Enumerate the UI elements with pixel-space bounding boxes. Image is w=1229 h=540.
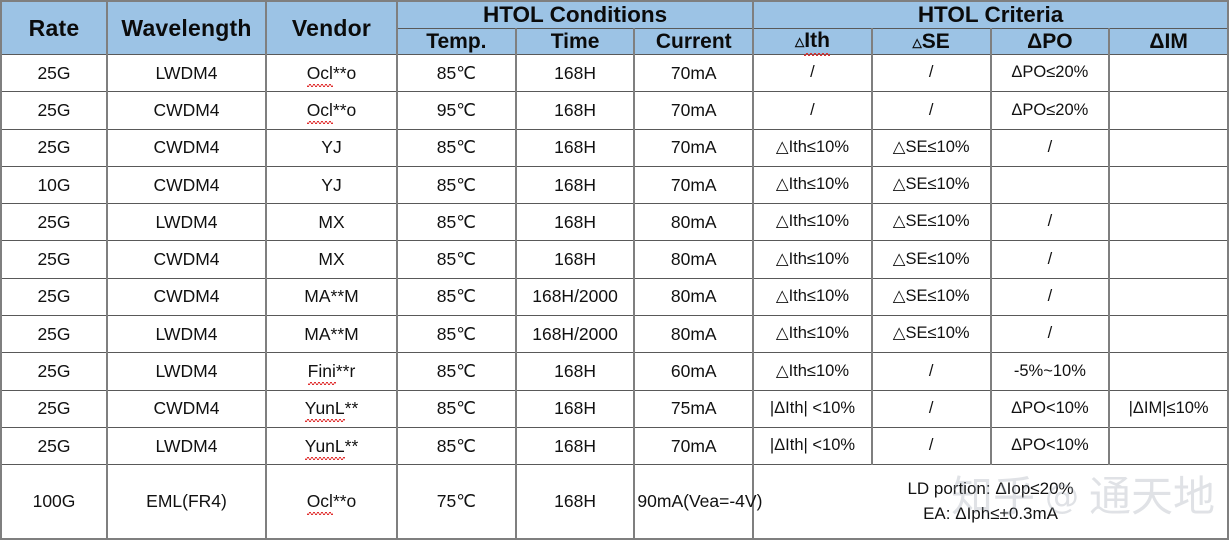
vendor-name-misspelled: YunL	[305, 398, 345, 419]
criteria-ld-portion: LD portion: ΔIop≤20%	[756, 477, 1225, 502]
vendor-name-suffix: **o	[333, 491, 356, 511]
cell-delta-im	[1109, 278, 1228, 315]
vendor-name-misspelled: Ocl	[307, 63, 333, 84]
cell-time: 168H	[516, 166, 635, 203]
cell-time: 168H	[516, 55, 635, 92]
cell-rate: 25G	[1, 353, 107, 390]
cell-vendor: MX	[266, 241, 397, 278]
cell-delta-po: ΔPO<10%	[991, 390, 1110, 427]
cell-temp: 95℃	[397, 92, 516, 129]
cell-delta-ith: △Ith≤10%	[753, 278, 872, 315]
cell-wavelength: LWDM4	[107, 353, 266, 390]
cell-delta-po: ΔPO<10%	[991, 427, 1110, 464]
cell-current: 70mA	[634, 129, 753, 166]
cell-delta-se: △SE≤10%	[872, 278, 991, 315]
cell-time: 168H	[516, 465, 635, 539]
cell-wavelength: CWDM4	[107, 278, 266, 315]
cell-time: 168H	[516, 92, 635, 129]
cell-delta-se: /	[872, 390, 991, 427]
vendor-name-misspelled: YunL	[305, 436, 345, 457]
cell-rate: 25G	[1, 316, 107, 353]
cell-time: 168H	[516, 129, 635, 166]
table-body: 25GLWDM4Ocl**o85℃168H70mA//ΔPO≤20%25GCWD…	[1, 55, 1228, 540]
table-row: 25GLWDM4Fini**r85℃168H60mA△Ith≤10%/-5%~1…	[1, 353, 1228, 390]
cell-vendor: MA**M	[266, 316, 397, 353]
column-header-delta-po: ΔPO	[991, 29, 1110, 55]
table-row: 100GEML(FR4)Ocl**o75℃168H90mA(Vea=-4V)LD…	[1, 465, 1228, 539]
cell-temp: 85℃	[397, 316, 516, 353]
cell-wavelength: CWDM4	[107, 166, 266, 203]
cell-current: 70mA	[634, 55, 753, 92]
cell-current: 90mA(Vea=-4V)	[634, 465, 753, 539]
cell-criteria-merged: LD portion: ΔIop≤20%EA: ΔIph≤±0.3mA	[753, 465, 1228, 539]
cell-delta-ith: △Ith≤10%	[753, 316, 872, 353]
cell-delta-ith: /	[753, 92, 872, 129]
cell-delta-se: △SE≤10%	[872, 166, 991, 203]
cell-delta-ith: △Ith≤10%	[753, 166, 872, 203]
cell-delta-im	[1109, 353, 1228, 390]
cell-delta-po: /	[991, 278, 1110, 315]
vendor-name-suffix: **o	[333, 63, 356, 83]
cell-delta-im	[1109, 316, 1228, 353]
cell-vendor: YJ	[266, 129, 397, 166]
cell-rate: 25G	[1, 427, 107, 464]
cell-delta-po: ΔPO≤20%	[991, 55, 1110, 92]
cell-time: 168H	[516, 204, 635, 241]
vendor-name-misspelled: Fini	[308, 361, 336, 382]
cell-delta-se: /	[872, 427, 991, 464]
table-row: 25GLWDM4Ocl**o85℃168H70mA//ΔPO≤20%	[1, 55, 1228, 92]
cell-delta-po: ΔPO≤20%	[991, 92, 1110, 129]
cell-rate: 25G	[1, 278, 107, 315]
table-row: 25GCWDM4MX85℃168H80mA△Ith≤10%△SE≤10%/	[1, 241, 1228, 278]
cell-temp: 75℃	[397, 465, 516, 539]
cell-rate: 25G	[1, 129, 107, 166]
cell-vendor: YunL**	[266, 390, 397, 427]
cell-vendor: YJ	[266, 166, 397, 203]
cell-delta-po: /	[991, 316, 1110, 353]
vendor-name-misspelled: Ocl	[307, 100, 333, 121]
cell-vendor: Ocl**o	[266, 55, 397, 92]
cell-delta-ith: |ΔIth| <10%	[753, 390, 872, 427]
cell-current: 80mA	[634, 316, 753, 353]
column-header-delta-se: △SE	[872, 29, 991, 55]
cell-rate: 25G	[1, 92, 107, 129]
table-row: 25GLWDM4MA**M85℃168H/200080mA△Ith≤10%△SE…	[1, 316, 1228, 353]
cell-wavelength: CWDM4	[107, 129, 266, 166]
table-row: 25GCWDM4YunL**85℃168H75mA|ΔIth| <10%/ΔPO…	[1, 390, 1228, 427]
cell-temp: 85℃	[397, 241, 516, 278]
cell-time: 168H	[516, 353, 635, 390]
column-header-vendor: Vendor	[266, 1, 397, 55]
cell-rate: 25G	[1, 204, 107, 241]
cell-delta-im	[1109, 129, 1228, 166]
cell-delta-ith: △Ith≤10%	[753, 241, 872, 278]
table-row: 25GCWDM4MA**M85℃168H/200080mA△Ith≤10%△SE…	[1, 278, 1228, 315]
cell-vendor: MX	[266, 204, 397, 241]
cell-rate: 25G	[1, 55, 107, 92]
cell-delta-ith: |ΔIth| <10%	[753, 427, 872, 464]
cell-delta-se: △SE≤10%	[872, 129, 991, 166]
cell-delta-im	[1109, 204, 1228, 241]
cell-current: 80mA	[634, 241, 753, 278]
table-row: 10GCWDM4YJ85℃168H70mA△Ith≤10%△SE≤10%	[1, 166, 1228, 203]
delta-triangle-icon: △	[795, 35, 804, 49]
cell-wavelength: LWDM4	[107, 316, 266, 353]
vendor-name-suffix: **o	[333, 100, 356, 120]
criteria-ea: EA: ΔIph≤±0.3mA	[756, 502, 1225, 527]
cell-delta-se: △SE≤10%	[872, 241, 991, 278]
cell-wavelength: CWDM4	[107, 241, 266, 278]
cell-delta-ith: △Ith≤10%	[753, 204, 872, 241]
cell-current: 70mA	[634, 427, 753, 464]
cell-temp: 85℃	[397, 390, 516, 427]
cell-current: 70mA	[634, 166, 753, 203]
spec-table-container: Rate Wavelength Vendor HTOL Conditions H…	[0, 0, 1229, 540]
cell-temp: 85℃	[397, 55, 516, 92]
cell-rate: 10G	[1, 166, 107, 203]
cell-temp: 85℃	[397, 129, 516, 166]
column-header-delta-im: ΔIM	[1109, 29, 1228, 55]
cell-delta-po: /	[991, 129, 1110, 166]
cell-time: 168H	[516, 241, 635, 278]
cell-temp: 85℃	[397, 166, 516, 203]
cell-time: 168H	[516, 427, 635, 464]
cell-temp: 85℃	[397, 278, 516, 315]
htol-spec-table: Rate Wavelength Vendor HTOL Conditions H…	[0, 0, 1229, 540]
vendor-name-suffix: **	[345, 436, 359, 456]
column-group-header-htol-conditions: HTOL Conditions	[397, 1, 753, 29]
cell-time: 168H/2000	[516, 278, 635, 315]
cell-delta-po: -5%~10%	[991, 353, 1110, 390]
cell-wavelength: CWDM4	[107, 92, 266, 129]
cell-rate: 100G	[1, 465, 107, 539]
column-header-delta-ith-label: Ith	[804, 29, 830, 54]
table-header: Rate Wavelength Vendor HTOL Conditions H…	[1, 1, 1228, 55]
cell-delta-im: |ΔIM|≤10%	[1109, 390, 1228, 427]
cell-wavelength: EML(FR4)	[107, 465, 266, 539]
cell-rate: 25G	[1, 390, 107, 427]
column-header-temp: Temp.	[397, 29, 516, 55]
cell-wavelength: LWDM4	[107, 204, 266, 241]
column-header-rate: Rate	[1, 1, 107, 55]
cell-wavelength: LWDM4	[107, 427, 266, 464]
delta-triangle-icon: △	[913, 35, 922, 49]
column-header-time: Time	[516, 29, 635, 55]
cell-delta-po: /	[991, 241, 1110, 278]
cell-wavelength: CWDM4	[107, 390, 266, 427]
column-header-current: Current	[634, 29, 753, 55]
cell-delta-po	[991, 166, 1110, 203]
cell-delta-im	[1109, 427, 1228, 464]
cell-delta-ith: △Ith≤10%	[753, 353, 872, 390]
cell-delta-ith: /	[753, 55, 872, 92]
table-row: 25GCWDM4YJ85℃168H70mA△Ith≤10%△SE≤10%/	[1, 129, 1228, 166]
cell-current: 80mA	[634, 204, 753, 241]
cell-delta-im	[1109, 241, 1228, 278]
cell-delta-se: /	[872, 55, 991, 92]
cell-vendor: Ocl**o	[266, 92, 397, 129]
table-row: 25GLWDM4YunL**85℃168H70mA|ΔIth| <10%/ΔPO…	[1, 427, 1228, 464]
table-row: 25GLWDM4MX85℃168H80mA△Ith≤10%△SE≤10%/	[1, 204, 1228, 241]
cell-delta-se: /	[872, 92, 991, 129]
cell-time: 168H/2000	[516, 316, 635, 353]
cell-delta-im	[1109, 92, 1228, 129]
cell-current: 60mA	[634, 353, 753, 390]
cell-current: 70mA	[634, 92, 753, 129]
cell-vendor: MA**M	[266, 278, 397, 315]
cell-vendor: Fini**r	[266, 353, 397, 390]
cell-vendor: Ocl**o	[266, 465, 397, 539]
cell-vendor: YunL**	[266, 427, 397, 464]
cell-delta-se: /	[872, 353, 991, 390]
vendor-name-misspelled: Ocl	[307, 491, 333, 512]
table-row: 25GCWDM4Ocl**o95℃168H70mA//ΔPO≤20%	[1, 92, 1228, 129]
cell-current: 80mA	[634, 278, 753, 315]
cell-temp: 85℃	[397, 427, 516, 464]
cell-temp: 85℃	[397, 204, 516, 241]
cell-delta-po: /	[991, 204, 1110, 241]
cell-current: 75mA	[634, 390, 753, 427]
vendor-name-suffix: **r	[336, 361, 355, 381]
cell-delta-ith: △Ith≤10%	[753, 129, 872, 166]
cell-delta-se: △SE≤10%	[872, 316, 991, 353]
cell-delta-se: △SE≤10%	[872, 204, 991, 241]
cell-delta-im	[1109, 55, 1228, 92]
cell-rate: 25G	[1, 241, 107, 278]
header-row-groups: Rate Wavelength Vendor HTOL Conditions H…	[1, 1, 1228, 29]
column-group-header-htol-criteria: HTOL Criteria	[753, 1, 1228, 29]
column-header-delta-se-label: SE	[922, 30, 950, 53]
cell-wavelength: LWDM4	[107, 55, 266, 92]
cell-delta-im	[1109, 166, 1228, 203]
cell-temp: 85℃	[397, 353, 516, 390]
cell-time: 168H	[516, 390, 635, 427]
vendor-name-suffix: **	[345, 398, 359, 418]
column-header-delta-ith: △Ith	[753, 29, 872, 55]
column-header-wavelength: Wavelength	[107, 1, 266, 55]
